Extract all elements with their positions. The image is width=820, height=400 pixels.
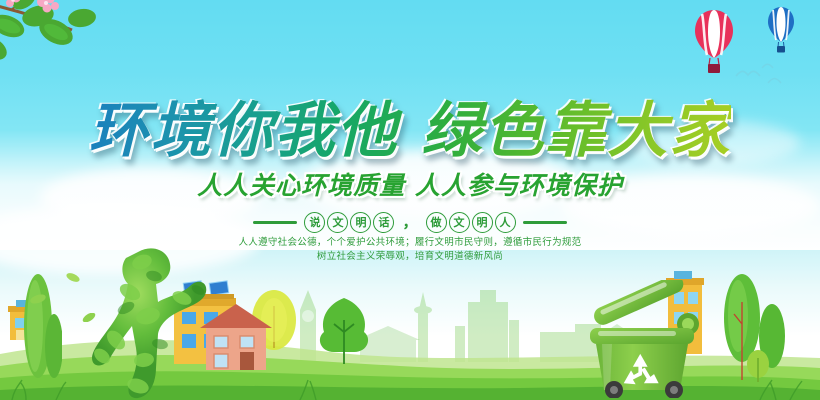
slogan-char: 做 [426,212,447,233]
leaf-tree-icon [314,294,374,370]
leafy-walking-person-icon [86,240,216,400]
floating-leaf-icon [30,294,46,304]
slogan-char: 明 [472,212,493,233]
red-hot-air-balloon-icon [692,8,736,74]
slogan-char: 说 [304,212,325,233]
slogan-row: 说 文 明 话 ， 做 文 明 人 [0,212,820,233]
slogan-char: 文 [449,212,470,233]
floating-leaf-icon [82,313,96,322]
body-copy: 人人遵守社会公德，个个爱护公共环境；履行文明市民守则，遵循市民行为规范 树立社会… [0,236,820,264]
blue-hot-air-balloon-icon [766,6,796,54]
headline-container: 环境你我他 绿色靠大家 [0,82,820,169]
floating-leaf-icon [66,273,80,282]
slogan-separator: ， [402,215,417,230]
slogan-char: 人 [495,212,516,233]
slogan-char: 文 [327,212,348,233]
green-recycle-bin-icon [580,280,710,398]
eco-poster: 环境你我他 绿色靠大家 人人关心环境质量 人人参与环境保护 说 文 明 话 ， … [0,0,820,400]
slogan-rule-right [523,221,567,224]
body-line: 树立社会主义荣辱观，培育文明道德新风尚 [0,250,820,264]
poster-headline: 环境你我他 绿色靠大家 [89,82,732,169]
subtitle-container: 人人关心环境质量 人人参与环境保护 [0,166,820,202]
slogan-right-group: 做 文 明 人 [426,212,516,233]
body-line: 人人遵守社会公德，个个爱护公共环境；履行文明市民守则，遵循市民行为规范 [0,236,820,250]
slogan-char: 话 [373,212,394,233]
leaf-branch-icon [0,0,144,76]
slogan-rule-left [253,221,297,224]
cypress-tree-icon [18,272,62,380]
poster-subtitle: 人人关心环境质量 人人参与环境保护 [197,166,623,202]
tree-group-right-icon [708,272,804,382]
slogan-char: 明 [350,212,371,233]
slogan-left-group: 说 文 明 话 [304,212,394,233]
